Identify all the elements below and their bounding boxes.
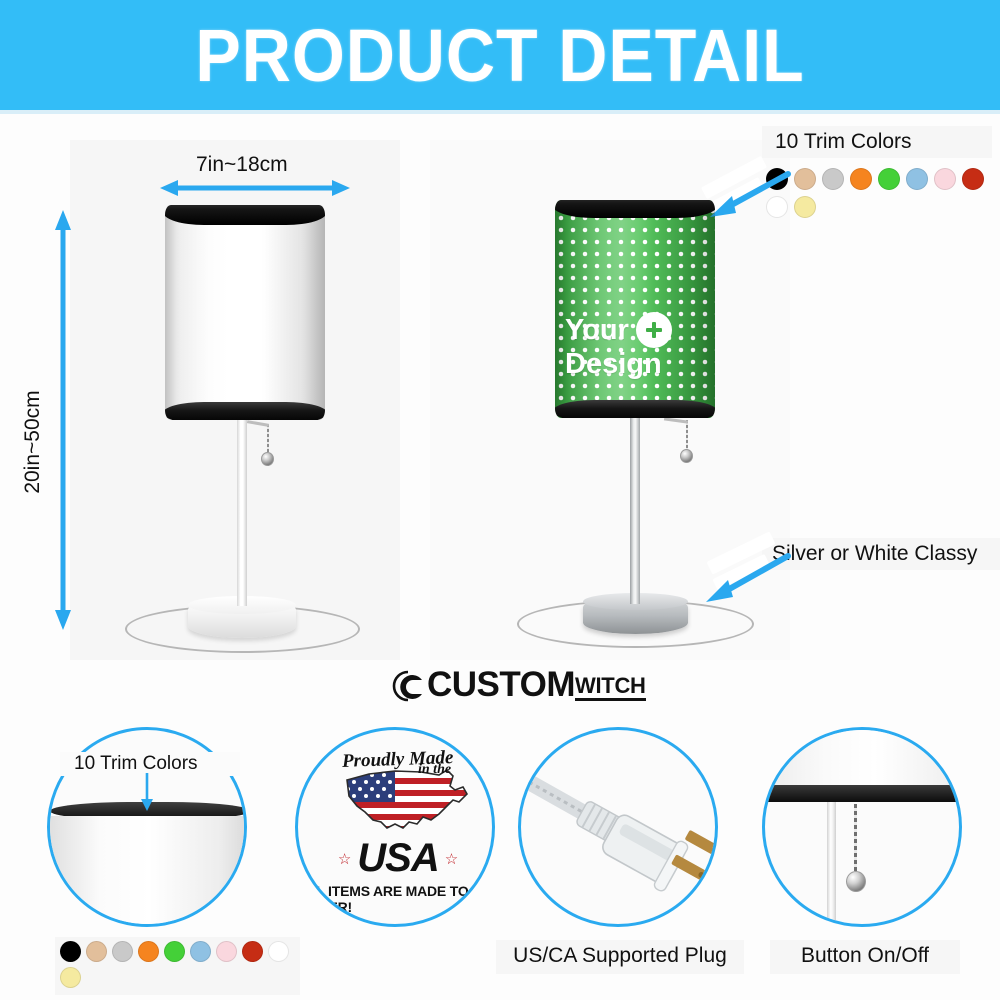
lamp-shade-white bbox=[165, 205, 325, 420]
width-dimension-arrow bbox=[160, 175, 350, 201]
panel-trim-down-arrow bbox=[137, 773, 157, 813]
pull-chain-bead-white[interactable] bbox=[261, 452, 274, 466]
star-left-icon: ☆ bbox=[338, 850, 351, 868]
base-material-label: Silver or White Classy bbox=[772, 542, 977, 566]
panel-trim-colors-label: 10 Trim Colors bbox=[74, 753, 198, 775]
panel-made-in-usa: Proudly Made bbox=[295, 727, 495, 927]
shade-trim-top-white bbox=[165, 205, 325, 225]
design-placeholder: Your Design bbox=[555, 312, 715, 381]
trim-color-swatches-top[interactable] bbox=[766, 168, 1000, 218]
trim-swatch-pale-yellow[interactable] bbox=[60, 967, 81, 988]
panel-btn-shade-body bbox=[765, 730, 962, 788]
trim-swatch-pale-yellow[interactable] bbox=[794, 196, 816, 218]
trim-swatch-gray[interactable] bbox=[822, 168, 844, 190]
panel-btn-trim bbox=[762, 785, 962, 802]
shade-surface-green bbox=[555, 200, 715, 418]
power-plug-icon bbox=[521, 730, 718, 927]
page-title: PRODUCT DETAIL bbox=[40, 0, 960, 110]
trim-swatch-light-blue[interactable] bbox=[906, 168, 928, 190]
lamp-pole-white bbox=[237, 420, 247, 606]
product-detail-infographic: PRODUCT DETAIL 7in~18cm 20in~50cm bbox=[0, 0, 1000, 1000]
usa-in-the: in the bbox=[418, 762, 451, 778]
trim-swatch-tan[interactable] bbox=[86, 941, 107, 962]
trim-swatch-dark-red[interactable] bbox=[962, 168, 984, 190]
shade-surface-white bbox=[165, 205, 325, 420]
shade-trim-bottom-white bbox=[165, 402, 325, 420]
trim-swatch-tan[interactable] bbox=[794, 168, 816, 190]
panel-btn-bead[interactable] bbox=[846, 871, 866, 892]
header-banner: PRODUCT DETAIL bbox=[0, 0, 1000, 110]
lamp-shade-green: Your Design bbox=[555, 200, 715, 418]
height-dimension-arrow bbox=[50, 210, 76, 630]
trim-swatch-orange[interactable] bbox=[138, 941, 159, 962]
usa-flag-map-icon bbox=[335, 762, 475, 838]
trim-swatch-black[interactable] bbox=[60, 941, 81, 962]
usa-wordmark: USA bbox=[357, 836, 438, 881]
panel-plug-caption: US/CA Supported Plug bbox=[498, 944, 742, 968]
trim-colors-arrow bbox=[706, 168, 796, 228]
pull-chain-bead-green[interactable] bbox=[680, 449, 693, 463]
trim-color-swatches-bottom[interactable] bbox=[60, 941, 300, 988]
star-right-icon: ☆ bbox=[445, 850, 458, 868]
panel-trim-shade-body bbox=[50, 816, 247, 927]
trim-swatch-light-blue[interactable] bbox=[190, 941, 211, 962]
logo-witch-text: WITCH bbox=[575, 674, 646, 701]
design-line-1: Your bbox=[565, 316, 629, 345]
trim-swatch-dark-red[interactable] bbox=[242, 941, 263, 962]
trim-swatch-green[interactable] bbox=[164, 941, 185, 962]
panel-plug bbox=[518, 727, 718, 927]
logo-custom-text: CUSTOM bbox=[427, 665, 575, 705]
panel-button-onoff bbox=[762, 727, 962, 927]
shade-trim-bottom-green bbox=[555, 400, 715, 418]
usa-wordmark-row: ☆ USA ☆ bbox=[338, 836, 458, 881]
usa-made-to-order: ALL ITEMS ARE MADE TO ORDER! bbox=[298, 883, 495, 915]
brand-logo: CUSTOM WITCH bbox=[392, 665, 646, 705]
panel-btn-pole[interactable] bbox=[827, 802, 836, 927]
height-dimension-label: 20in~50cm bbox=[21, 382, 45, 502]
panel-button-caption: Button On/Off bbox=[772, 944, 958, 968]
trim-colors-title: 10 Trim Colors bbox=[775, 130, 912, 154]
trim-swatch-gray[interactable] bbox=[112, 941, 133, 962]
trim-swatch-pink[interactable] bbox=[216, 941, 237, 962]
lamp-pole-silver bbox=[630, 418, 640, 604]
trim-swatch-white[interactable] bbox=[268, 941, 289, 962]
plus-icon bbox=[636, 312, 672, 348]
base-material-arrow bbox=[700, 548, 796, 610]
trim-swatch-green[interactable] bbox=[878, 168, 900, 190]
panel-btn-chain[interactable] bbox=[854, 804, 857, 874]
shade-trim-top-green bbox=[555, 200, 715, 218]
trim-swatch-orange[interactable] bbox=[850, 168, 872, 190]
design-line-2: Design bbox=[565, 348, 705, 381]
width-dimension-label: 7in~18cm bbox=[196, 153, 288, 177]
trim-swatch-pink[interactable] bbox=[934, 168, 956, 190]
c-monogram-icon bbox=[392, 669, 426, 705]
